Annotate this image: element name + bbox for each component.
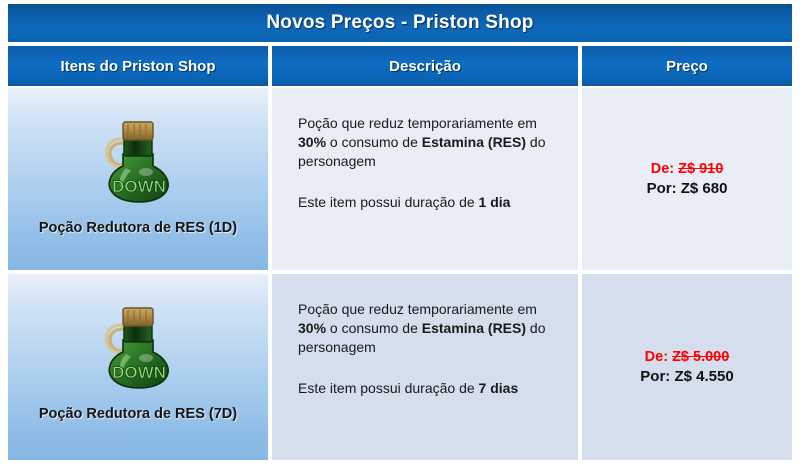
old-price: De: Z$ 910 (651, 161, 724, 177)
desc-text-stat: Estamina (RES) (422, 320, 526, 336)
duration-text-a: Este item possui duração de (298, 380, 479, 396)
item-name-label: Poção Redutora de RES (7D) (39, 406, 237, 422)
item-name-label: Poção Redutora de RES (1D) (39, 220, 237, 236)
svg-text:DOWN: DOWN (112, 177, 166, 196)
desc-text-a: Poção que reduz temporariamente em (298, 301, 537, 317)
desc-text-a: Poção que reduz temporariamente em (298, 115, 537, 131)
new-price: Por: Z$ 680 (647, 180, 728, 197)
priston-shop-price-table: Novos Preços - Priston Shop Itens do Pri… (0, 0, 800, 466)
table-row: DOWN Poção Redutora de RES (7D) Poção qu… (8, 274, 792, 460)
desc-text-percent: 30% (298, 134, 326, 150)
column-header-items: Itens do Priston Shop (8, 46, 268, 86)
new-price-value: Z$ 680 (681, 180, 728, 197)
description-paragraph-duration: Este item possui duração de 1 dia (298, 193, 556, 212)
table-title-bar: Novos Preços - Priston Shop (8, 4, 792, 42)
duration-text-a: Este item possui duração de (298, 194, 479, 210)
green-potion-down-icon: DOWN (90, 110, 186, 206)
old-price-value: Z$ 910 (678, 161, 723, 177)
new-price-value: Z$ 4.550 (674, 368, 733, 385)
duration-value: 1 dia (479, 194, 511, 210)
new-price-label: Por: (640, 368, 670, 385)
item-cell: DOWN Poção Redutora de RES (7D) (8, 274, 268, 460)
desc-text-percent: 30% (298, 320, 326, 336)
desc-text-c: o consumo de (326, 134, 422, 150)
column-header-description-label: Descrição (389, 58, 461, 75)
column-header-price: Preço (582, 46, 792, 86)
new-price-label: Por: (647, 180, 677, 197)
column-header-items-label: Itens do Priston Shop (60, 58, 215, 75)
description-cell: Poção que reduz temporariamente em 30% o… (272, 88, 578, 270)
description-paragraph-duration: Este item possui duração de 7 dias (298, 379, 556, 398)
column-header-price-label: Preço (666, 58, 708, 75)
old-price-value: Z$ 5.000 (672, 349, 729, 365)
desc-text-c: o consumo de (326, 320, 422, 336)
old-price-label: De: (645, 349, 668, 365)
old-price: De: Z$ 5.000 (645, 349, 730, 365)
item-cell: DOWN Poção Redutora de RES (1D) (8, 88, 268, 270)
old-price-label: De: (651, 161, 674, 177)
price-cell: De: Z$ 5.000 Por: Z$ 4.550 (582, 274, 792, 460)
duration-value: 7 dias (479, 380, 519, 396)
description-paragraph-effect: Poção que reduz temporariamente em 30% o… (298, 300, 556, 357)
new-price: Por: Z$ 4.550 (640, 368, 733, 385)
svg-text:DOWN: DOWN (112, 363, 166, 382)
page-title: Novos Preços - Priston Shop (266, 12, 533, 34)
description-paragraph-effect: Poção que reduz temporariamente em 30% o… (298, 114, 556, 171)
column-header-description: Descrição (272, 46, 578, 86)
price-cell: De: Z$ 910 Por: Z$ 680 (582, 88, 792, 270)
table-header-row: Itens do Priston Shop Descrição Preço (8, 46, 792, 86)
desc-text-stat: Estamina (RES) (422, 134, 526, 150)
description-cell: Poção que reduz temporariamente em 30% o… (272, 274, 578, 460)
table-row: DOWN Poção Redutora de RES (1D) Poção qu… (8, 88, 792, 270)
green-potion-down-icon: DOWN (90, 296, 186, 392)
